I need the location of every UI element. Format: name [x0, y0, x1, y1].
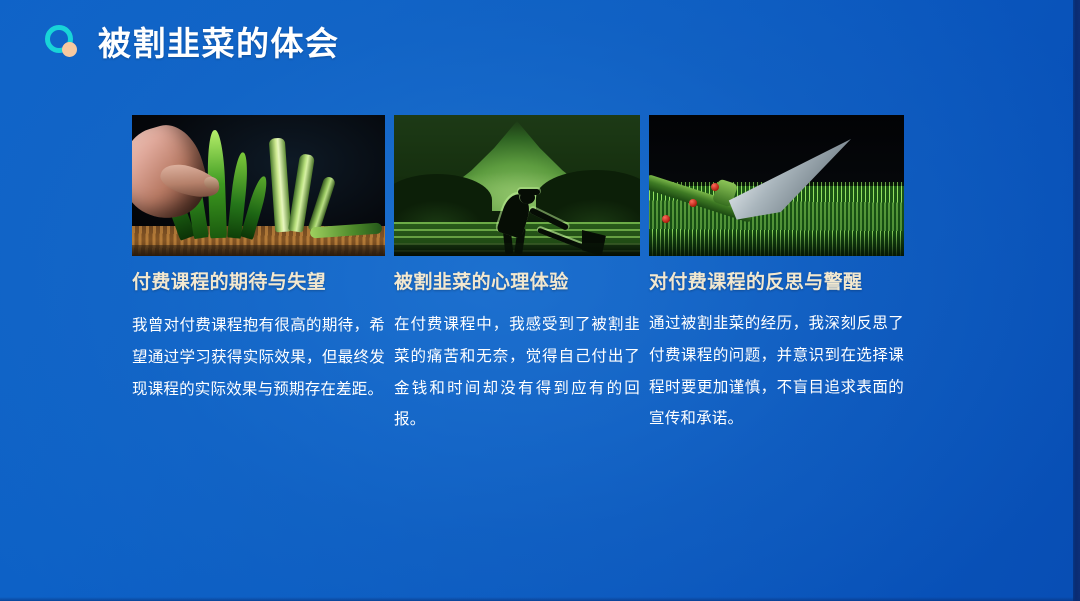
slide-canvas: 被割韭菜的体会 付费课程的期待与失望 我曾对付费课程抱	[0, 0, 1080, 601]
content-columns: 付费课程的期待与失望 我曾对付费课程抱有很高的期待，希望通过学习获得实际效果，但…	[132, 115, 904, 436]
content-column-1: 付费课程的期待与失望 我曾对付费课程抱有很高的期待，希望通过学习获得实际效果，但…	[132, 115, 385, 436]
leek-stalk	[269, 138, 292, 233]
hill-left	[394, 174, 492, 226]
card-body-2: 在付费课程中，我感受到了被割韭菜的痛苦和无奈，觉得自己付出了金钱和时间却没有得到…	[394, 309, 640, 436]
farmer-silhouette-mountain-photo	[394, 115, 640, 256]
ring-dot-logo-icon	[44, 24, 82, 62]
red-rivet	[711, 183, 719, 191]
card-body-3: 通过被割韭菜的经历，我深刻反思了付费课程的问题，并意识到在选择课程时要更加谨慎，…	[649, 308, 904, 435]
content-column-3: 对付费课程的反思与警醒 通过被割韭菜的经历，我深刻反思了付费课程的问题，并意识到…	[649, 115, 904, 436]
logo-dot-shape	[62, 42, 77, 57]
card-title-2: 被割韭菜的心理体验	[394, 270, 640, 297]
red-rivet	[662, 215, 670, 223]
farmer-hat	[518, 189, 540, 195]
page-title: 被割韭菜的体会	[98, 27, 340, 60]
soil-shadow	[132, 245, 385, 256]
blade-over-grass-photo	[649, 115, 904, 256]
hand-harvesting-leeks-photo	[132, 115, 385, 256]
card-title-3: 对付费课程的反思与警醒	[649, 270, 904, 297]
card-body-1: 我曾对付费课程抱有很高的期待，希望通过学习获得实际效果，但最终发现课程的实际效果…	[132, 310, 385, 405]
grass-shadow	[649, 230, 904, 256]
leek-stalk	[308, 176, 337, 233]
slide-right-edge	[1073, 0, 1080, 601]
content-column-2: 被割韭菜的心理体验 在付费课程中，我感受到了被割韭菜的痛苦和无奈，觉得自己付出了…	[394, 115, 640, 436]
red-rivet	[689, 199, 697, 207]
card-title-1: 付费课程的期待与失望	[132, 270, 385, 297]
slide-header: 被割韭菜的体会	[44, 24, 340, 62]
field-shadow	[394, 243, 640, 256]
slide-bottom-edge	[0, 597, 1080, 601]
